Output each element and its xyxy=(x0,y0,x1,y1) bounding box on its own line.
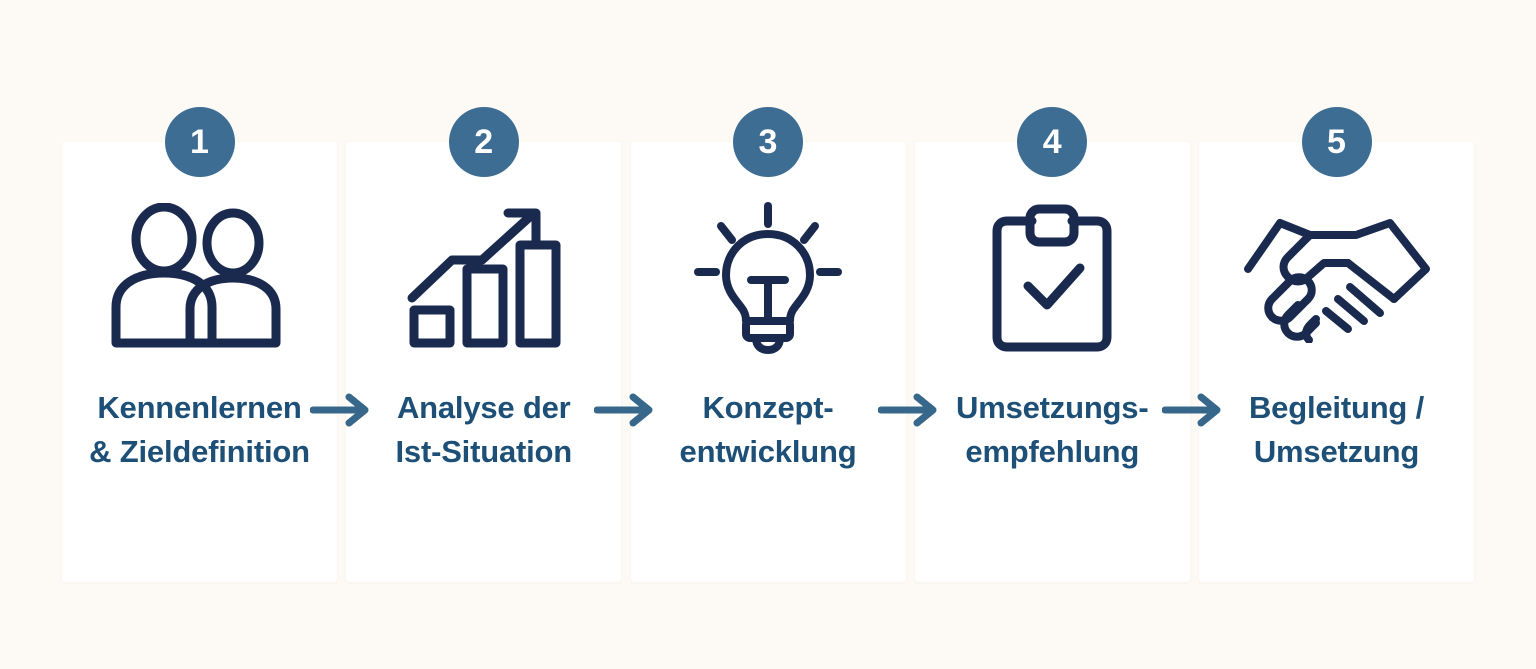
label-line-1: Konzept- xyxy=(703,390,834,425)
step-number-badge-5: 5 xyxy=(1302,107,1372,177)
process-step-label-4: Umsetzungs- empfehlung xyxy=(915,386,1190,474)
connector-gap-3 xyxy=(906,142,915,582)
label-line-2: empfehlung xyxy=(921,430,1184,474)
arrow-right-icon xyxy=(594,393,658,427)
process-step-label-2: Analyse der Ist-Situation xyxy=(346,386,621,474)
step-number-badge-4: 4 xyxy=(1017,107,1087,177)
process-step-label-5: Begleitung / Umsetzung xyxy=(1199,386,1474,474)
label-line-2: Umsetzung xyxy=(1205,430,1468,474)
label-line-2: Ist-Situation xyxy=(352,430,615,474)
label-line-2: & Zieldefinition xyxy=(68,430,331,474)
connector-gap-4 xyxy=(1190,142,1199,582)
step-number-badge-1: 1 xyxy=(165,107,235,177)
process-step-2[interactable]: 2 Analyse der Ist-Situation xyxy=(346,142,621,582)
process-step-1[interactable]: 1 Kennenlernen & Zieldefinition xyxy=(62,142,337,582)
connector-gap-1 xyxy=(337,142,346,582)
arrow-right-icon xyxy=(310,393,374,427)
process-step-5[interactable]: 5 Begleitung / Umsetzung xyxy=(1199,142,1474,582)
step-number-badge-2: 2 xyxy=(449,107,519,177)
handshake-icon xyxy=(1199,198,1474,358)
clipboard-check-icon xyxy=(915,198,1190,358)
process-step-4[interactable]: 4 Umsetzungs- empfehlung xyxy=(915,142,1190,582)
connector-gap-2 xyxy=(621,142,630,582)
two-people-icon xyxy=(62,198,337,358)
label-line-1: Begleitung / xyxy=(1249,390,1424,425)
label-line-2: entwicklung xyxy=(637,430,900,474)
arrow-right-icon xyxy=(878,393,942,427)
label-line-1: Analyse der xyxy=(397,390,571,425)
process-step-label-3: Konzept- entwicklung xyxy=(631,386,906,474)
label-line-1: Umsetzungs- xyxy=(956,390,1148,425)
arrow-right-icon xyxy=(1162,393,1226,427)
lightbulb-idea-icon xyxy=(631,198,906,358)
step-number-badge-3: 3 xyxy=(733,107,803,177)
process-step-3[interactable]: 3 Konzept- entwicklung xyxy=(631,142,906,582)
process-steps-strip: 1 Kennenlernen & Zieldefinition xyxy=(62,142,1474,582)
process-step-label-1: Kennenlernen & Zieldefinition xyxy=(62,386,337,474)
label-line-1: Kennenlernen xyxy=(97,390,301,425)
process-diagram: 1 Kennenlernen & Zieldefinition xyxy=(0,0,1536,669)
bar-chart-growth-icon xyxy=(346,198,621,358)
